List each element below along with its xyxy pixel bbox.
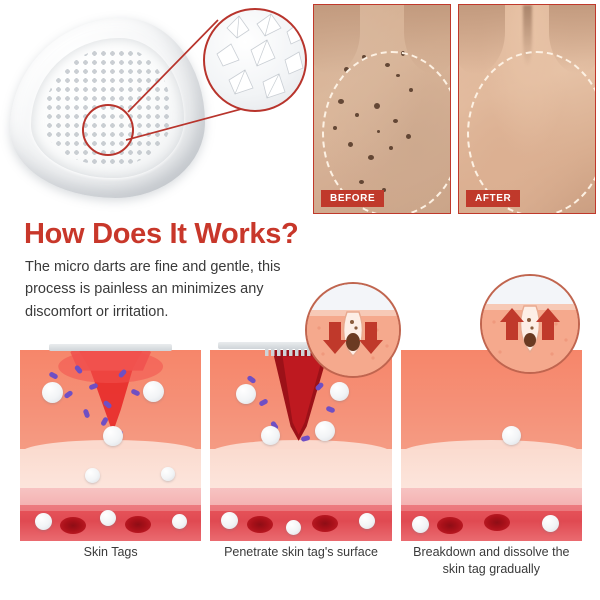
white-blood-cell [143,381,164,402]
product-image-area [0,0,310,215]
skin-cross-section-2 [210,350,391,541]
how-it-works-diagram: Skin Tags [20,336,582,541]
clogged-pore-icon [307,284,399,376]
clearing-pore-icon [482,276,578,372]
micro-darts-magnified [203,8,307,112]
white-blood-cell [161,467,175,481]
dermis-layer [401,449,582,487]
step-caption-1: Skin Tags [20,544,201,561]
penetration-wound [210,350,391,541]
page-title: How Does It Works? [24,218,298,251]
blood-vessel [401,505,582,541]
zoom-source-ring [82,104,134,156]
dart-pyramids-icon [205,10,305,110]
white-blood-cell [236,384,256,404]
hypodermis-layer [401,488,582,505]
pore-callout-penetrate [305,282,401,378]
step-panel-3: Breakdown and dissolve the skin tag grad… [401,336,582,541]
skin-cross-section-1 [20,350,201,541]
patch-applicator-strip [49,344,172,351]
step-panel-2: Penetrate skin tag's surface [210,336,391,541]
step-caption-2: Penetrate skin tag's surface [210,544,391,561]
pore-callout-dissolve [480,274,580,374]
before-after-comparison: BEFORE AFTER [313,4,596,214]
step-panel-1: Skin Tags [20,336,201,541]
skin-cross-section-3 [401,350,582,541]
before-badge: BEFORE [321,190,384,207]
after-badge: AFTER [466,190,520,207]
description-text: The micro darts are fine and gentle, thi… [25,256,325,323]
after-photo-card: AFTER [458,4,596,214]
infographic-page: BEFORE AFTER How Does It Works? The micr… [0,0,600,600]
step-caption-3: Breakdown and dissolve the skin tag grad… [401,544,582,578]
before-photo-card: BEFORE [313,4,451,214]
